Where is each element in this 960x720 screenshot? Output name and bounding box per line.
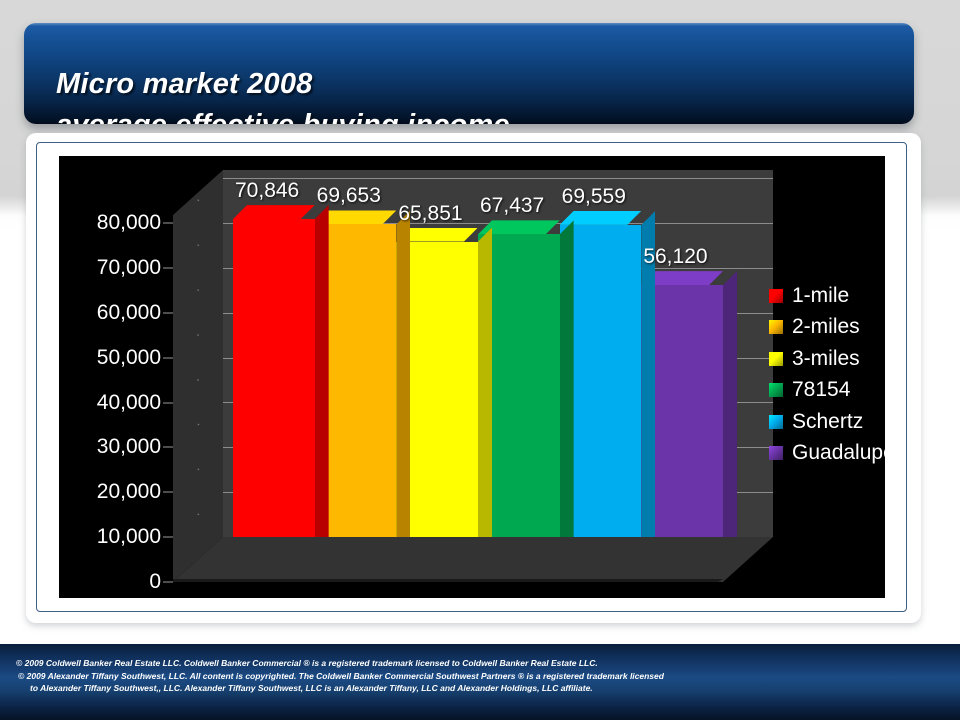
page-title-line-2: average effective buying income xyxy=(56,109,510,124)
bar-value-label: 69,653 xyxy=(317,184,381,208)
legend-item-3-miles[interactable]: 3-miles xyxy=(769,343,885,375)
bar-value-label: 56,120 xyxy=(643,245,707,269)
footer-copyright-line-2: © 2009 Alexander Tiffany Southwest, LLC.… xyxy=(10,670,730,683)
legend-item-2-miles[interactable]: 2-miles xyxy=(769,312,885,344)
bar-value-label: 70,846 xyxy=(235,179,299,203)
bar-side-face xyxy=(560,220,574,537)
y-axis-tick-mark xyxy=(163,223,173,224)
legend-item-schertz[interactable]: Schertz xyxy=(769,406,885,438)
legend-color-swatch xyxy=(769,446,783,460)
chart-container: 80,00070,00060,00050,00040,00030,00020,0… xyxy=(26,133,921,623)
legend-color-swatch xyxy=(769,320,783,334)
legend-item-1-mile[interactable]: 1-mile xyxy=(769,280,885,312)
y-axis-tick-label: 40,000 xyxy=(97,391,161,415)
y-axis-tick-mark xyxy=(163,582,173,583)
y-axis-tick-label: 30,000 xyxy=(97,435,161,459)
legend-color-swatch xyxy=(769,352,783,366)
bar-side-face xyxy=(723,271,737,537)
footer-copyright-line-1: © 2009 Coldwell Banker Real Estate LLC. … xyxy=(10,657,730,670)
footer-copyright-line-3: to Alexander Tiffany Southwest,, LLC. Al… xyxy=(10,682,730,695)
legend-item-label: Guadalupe xyxy=(792,441,885,465)
y-axis-tick-mark xyxy=(163,402,173,403)
bars-layer: 70,84669,65365,85167,43769,55956,120 xyxy=(173,170,773,582)
y-axis-tick-mark xyxy=(163,537,173,538)
y-axis-tick-mark xyxy=(163,492,173,493)
bar-side-face xyxy=(315,205,329,537)
bar-value-label: 65,851 xyxy=(398,202,462,226)
legend-item-label: 2-miles xyxy=(792,315,860,339)
y-axis-tick-label: 70,000 xyxy=(97,256,161,280)
legend-color-swatch xyxy=(769,383,783,397)
y-axis-tick-label: 50,000 xyxy=(97,346,161,370)
bar-value-label: 69,559 xyxy=(562,185,626,209)
y-axis-tick-label: 20,000 xyxy=(97,480,161,504)
y-axis-tick-label: 60,000 xyxy=(97,301,161,325)
legend-item-guadalupe[interactable]: Guadalupe xyxy=(769,438,885,470)
y-axis-tick-mark xyxy=(163,357,173,358)
slide: Micro market 2008 average effective buyi… xyxy=(0,0,960,720)
footer-copyright: © 2009 Coldwell Banker Real Estate LLC. … xyxy=(10,657,730,695)
chart-frame: 80,00070,00060,00050,00040,00030,00020,0… xyxy=(36,142,907,612)
legend-item-78154[interactable]: 78154 xyxy=(769,375,885,407)
y-axis-tick-label: 0 xyxy=(149,570,161,594)
bar-side-face xyxy=(478,228,492,538)
legend-item-label: Schertz xyxy=(792,410,863,434)
y-axis-tick-mark xyxy=(163,447,173,448)
y-axis-tick-label: 80,000 xyxy=(97,211,161,235)
bar-side-face xyxy=(396,210,410,537)
chart-legend: 1-mile2-miles3-miles78154SchertzGuadalup… xyxy=(769,280,885,469)
legend-item-label: 1-mile xyxy=(792,284,849,308)
y-axis-tick-label: 10,000 xyxy=(97,525,161,549)
y-axis-tick-mark xyxy=(163,312,173,313)
title-banner: Micro market 2008 average effective buyi… xyxy=(24,23,914,124)
y-axis-tick-mark xyxy=(163,267,173,268)
y-axis: 80,00070,00060,00050,00040,00030,00020,0… xyxy=(59,156,177,598)
legend-item-label: 78154 xyxy=(792,378,850,402)
chart-panel: 80,00070,00060,00050,00040,00030,00020,0… xyxy=(59,156,885,598)
bar-top-face xyxy=(233,205,315,219)
footer-bar: © 2009 Coldwell Banker Real Estate LLC. … xyxy=(0,644,960,720)
legend-color-swatch xyxy=(769,415,783,429)
legend-color-swatch xyxy=(769,289,783,303)
page-title-line-1: Micro market 2008 xyxy=(56,68,313,101)
legend-item-label: 3-miles xyxy=(792,347,860,371)
bar-front-face xyxy=(233,219,315,537)
bar-1-mile[interactable] xyxy=(233,219,315,537)
bar-value-label: 67,437 xyxy=(480,194,544,218)
